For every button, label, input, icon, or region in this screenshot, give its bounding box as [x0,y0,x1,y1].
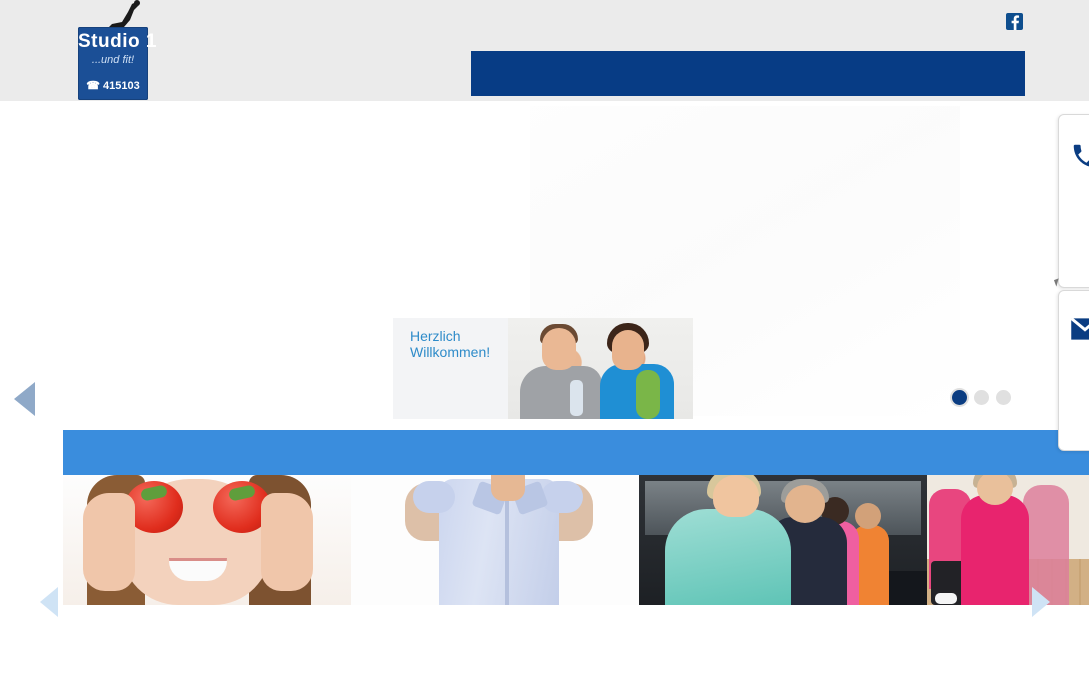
logo-tagline: ...und fit! [78,53,148,67]
hero-pagination-dots[interactable] [952,390,1011,405]
logo-phone: ☎ 415103 [78,79,148,93]
hero-dot-3[interactable] [996,390,1011,405]
card-item[interactable] [639,430,927,605]
hero-slide-caption: Herzlich Willkommen! [410,328,490,360]
hero-dot-2[interactable] [974,390,989,405]
card-image-back-therapy [351,475,639,605]
card-image-cardio [639,475,927,605]
card-image-nutrition [63,475,351,605]
card-title [63,430,351,475]
envelope-icon [1070,317,1089,341]
main-navigation[interactable] [471,51,1025,96]
card-item[interactable] [351,430,639,605]
hero-prev-arrow-icon[interactable] [14,382,35,416]
phone-icon [1070,141,1089,171]
logo-name: Studio 1 [78,31,148,53]
hero-caption-line-2: Willkommen! [410,344,490,360]
facebook-icon[interactable] [1006,13,1023,30]
card-carousel [0,430,1089,610]
card-title [639,430,927,475]
page-root: Studio 1 ...und fit! ☎ 415103 [0,0,1089,700]
hero-slide[interactable]: Herzlich Willkommen! [393,318,693,419]
hero-caption-line-1: Herzlich [410,328,490,344]
card-image-group-fitness [927,475,1089,605]
hero-slider: Herzlich Willkommen! [0,101,1089,421]
site-logo[interactable]: Studio 1 ...und fit! ☎ 415103 [78,0,150,103]
card-title [351,430,639,475]
hero-slide-photo [508,318,693,419]
facebook-glyph-icon [1006,13,1023,30]
side-tab-email[interactable] [1058,290,1089,451]
carousel-prev-arrow-icon[interactable] [40,587,58,617]
card-item[interactable] [927,430,1089,605]
hero-dot-1[interactable] [952,390,967,405]
logo-plate: Studio 1 ...und fit! ☎ 415103 [78,27,148,100]
card-item[interactable] [63,430,351,605]
side-tab-phone[interactable] [1058,114,1089,288]
carousel-next-arrow-icon[interactable] [1032,587,1050,617]
